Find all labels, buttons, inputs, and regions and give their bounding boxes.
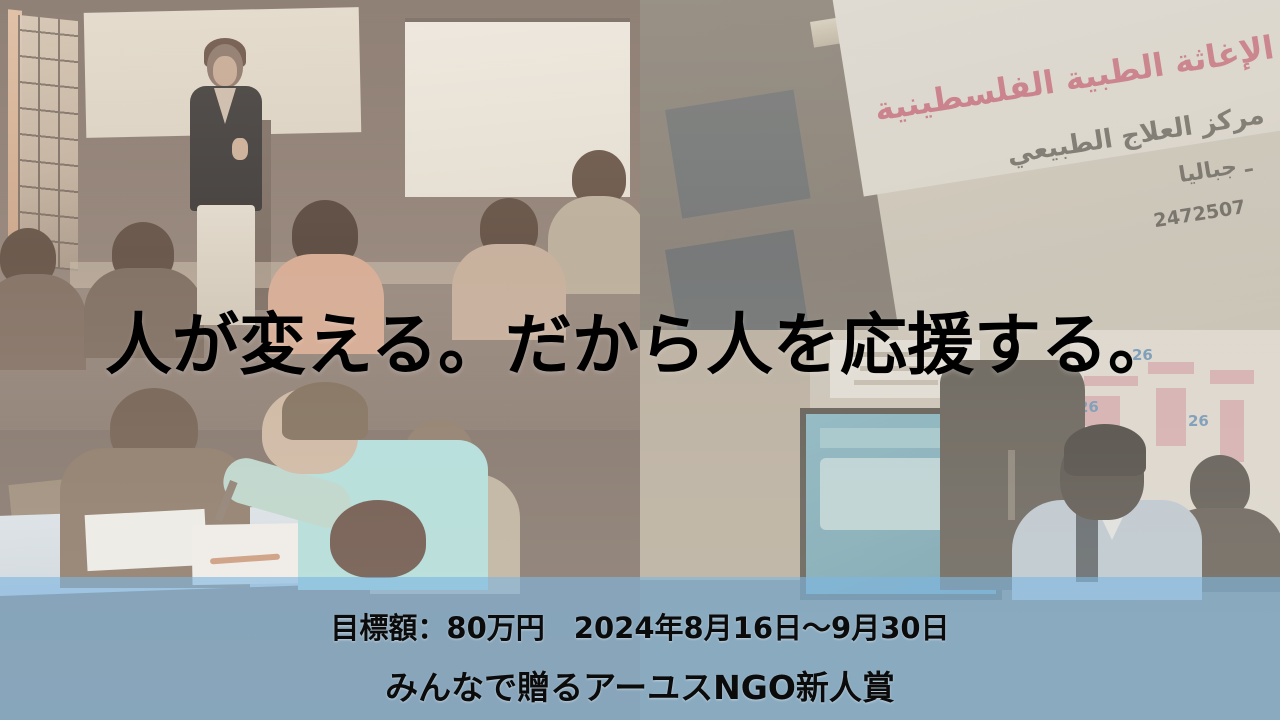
person-tie: [1076, 512, 1098, 582]
poster-number: 26: [1188, 412, 1209, 430]
presenter-hands: [232, 138, 248, 160]
poster-canvas: الإغاثة الطبية الفلسطينية مركز العلاج ال…: [0, 0, 1280, 720]
white-pole: [1008, 450, 1015, 520]
foreground-person-hair: [1064, 424, 1146, 476]
poster-headline: 人が変える。だから人を応援する。: [0, 312, 1280, 379]
poster-mark: [1220, 400, 1244, 462]
building-window: [665, 90, 811, 219]
presenter-face: [213, 56, 237, 86]
campaign-title-line: みんなで贈るアーユスNGO新人賞: [0, 661, 1280, 709]
poster-mark: [1156, 388, 1186, 446]
writing-participant-hair: [282, 382, 368, 440]
foreground-head: [330, 500, 426, 578]
worksheet-paper: [85, 509, 208, 571]
band-text-group: 目標額：80万円 2024年8月16日〜9月30日 みんなで贈るアーユスNGO新…: [0, 577, 1280, 709]
goal-and-period-line: 目標額：80万円 2024年8月16日〜9月30日: [0, 605, 1280, 647]
ambulance-graphic-icon: [820, 458, 950, 530]
bottom-info-band: 目標額：80万円 2024年8月16日〜9月30日 みんなで贈るアーユスNGO新…: [0, 577, 1280, 720]
